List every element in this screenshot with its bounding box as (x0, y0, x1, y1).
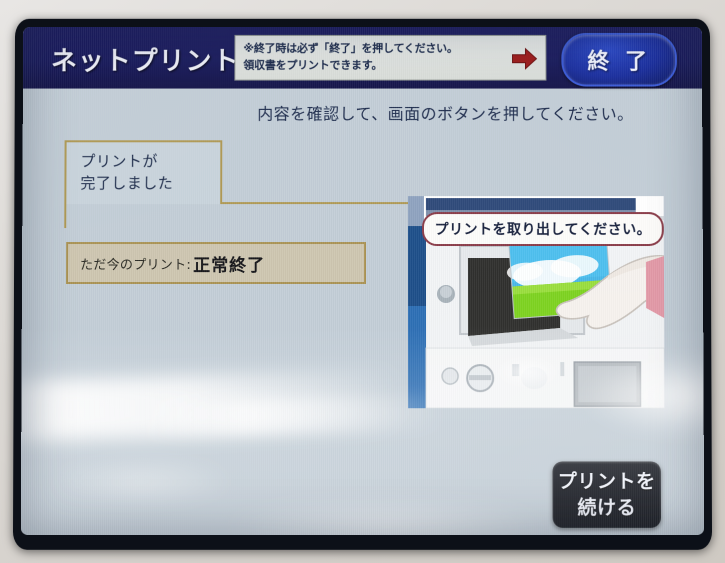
right-arrow-icon (512, 47, 538, 71)
print-status-value: 正常終了 (193, 251, 265, 276)
notice-line-1: ※終了時は必ず「終了」を押してください。 (243, 40, 539, 57)
illustration-callout-label: プリントを取り出してください。 (435, 219, 652, 239)
continue-button-line-2: 続ける (577, 495, 636, 521)
print-status-box: ただ今のプリント: 正常終了 (66, 242, 366, 284)
screen-glare-bloom-bottom (221, 497, 552, 535)
screen-glare-bloom-left (51, 456, 232, 506)
section-divider-stub (64, 202, 66, 228)
status-tab-line-1: プリントが (80, 150, 220, 172)
notice-line-2: 領収書をプリントできます。 (243, 57, 539, 74)
continue-printing-button[interactable]: プリントを 続ける (552, 461, 661, 527)
illustration-callout: プリントを取り出してください。 (422, 212, 664, 246)
status-tab: プリントが 完了しました (64, 140, 222, 204)
instruction-text: 内容を確認して、画面のボタンを押してください。 (257, 100, 633, 124)
end-button-label: 終 了 (587, 44, 651, 76)
notice-banner: ※終了時は必ず「終了」を押してください。 領収書をプリントできます。 (234, 35, 546, 81)
end-button[interactable]: 終 了 (561, 33, 677, 87)
kiosk-screen: ネットプリント ※終了時は必ず「終了」を押してください。 領収書をプリントできま… (21, 27, 704, 535)
header-bar: ネットプリント ※終了時は必ず「終了」を押してください。 領収書をプリントできま… (23, 27, 702, 89)
page-title: ネットプリント (51, 41, 240, 78)
print-status-label: ただ今のプリント: (80, 254, 191, 273)
continue-button-line-1: プリントを (558, 468, 656, 494)
screen-glare-streak-secondary (141, 395, 442, 435)
status-tab-line-2: 完了しました (80, 172, 220, 194)
kiosk-photo: ネットプリント ※終了時は必ず「終了」を押してください。 領収書をプリントできま… (0, 0, 725, 563)
screen-glare-streak-main (21, 370, 403, 442)
